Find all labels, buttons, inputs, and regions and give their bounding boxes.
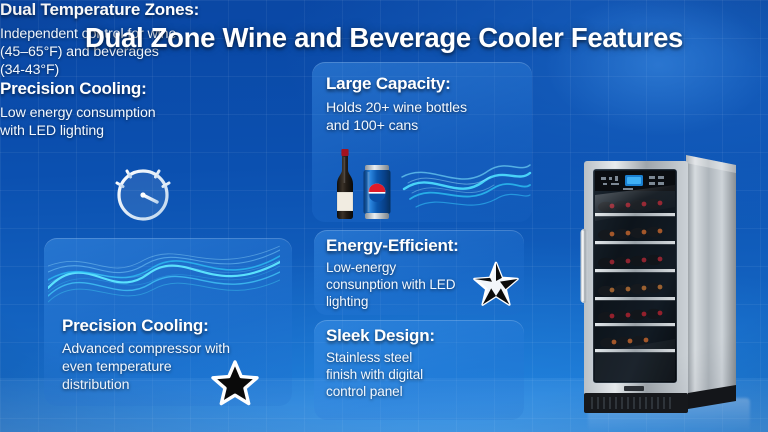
sine-wave-mesh-graphic xyxy=(48,240,280,312)
feature-body-line-2: finish with digital xyxy=(326,366,516,383)
feature-heading: Precision Cooling: xyxy=(0,79,205,99)
feature-body-line-1: Stainless steel xyxy=(326,349,516,366)
feature-body-line-3: control panel xyxy=(326,383,516,400)
feature-body-line-2: with LED lighting xyxy=(0,122,205,140)
cold-airflow-icon xyxy=(400,155,532,217)
feature-heading: Precision Cooling: xyxy=(62,316,288,336)
infographic-canvas: Dual Zone Wine and Beverage Cooler Featu… xyxy=(0,0,768,432)
feature-energy-efficient-text: Energy-Efficient: Low-energy consunption… xyxy=(326,236,486,311)
feature-body-line-1: Low-energy xyxy=(326,259,486,276)
wine-bottle-icon xyxy=(332,148,358,220)
feature-body-line-2: consunption with LED xyxy=(326,276,486,293)
thermostat-dial-icon xyxy=(107,157,179,229)
feature-heading: Large Capacity: xyxy=(326,74,526,94)
feature-heading: Sleek Design: xyxy=(326,326,516,346)
page-title: Dual Zone Wine and Beverage Cooler Featu… xyxy=(0,22,768,54)
feature-heading: Energy-Efficient: xyxy=(326,236,486,256)
feature-body-line-1: Holds 20+ wine bottles xyxy=(326,99,526,117)
feature-body-line-1: Advanced compressor with xyxy=(62,340,288,358)
feature-body-line-2: and 100+ cans xyxy=(326,117,526,135)
feature-body-line-1: Low energy consumption xyxy=(0,104,205,122)
feature-sleek-design-text: Sleek Design: Stainless steel finish wit… xyxy=(326,326,516,401)
feature-large-capacity-text: Large Capacity: Holds 20+ wine bottles a… xyxy=(326,74,526,135)
feature-heading: Dual Temperature Zones: xyxy=(0,0,262,20)
feature-precision-cooling-right: Precision Cooling: Low energy consumptio… xyxy=(0,79,205,140)
soda-can-icon xyxy=(362,163,392,220)
wine-cooler-product-image xyxy=(578,143,758,413)
star-icon xyxy=(472,260,520,308)
star-icon xyxy=(210,358,260,408)
feature-body-line-3: lighting xyxy=(326,293,486,310)
feature-body-line-3: (34-43°F) xyxy=(0,61,262,79)
